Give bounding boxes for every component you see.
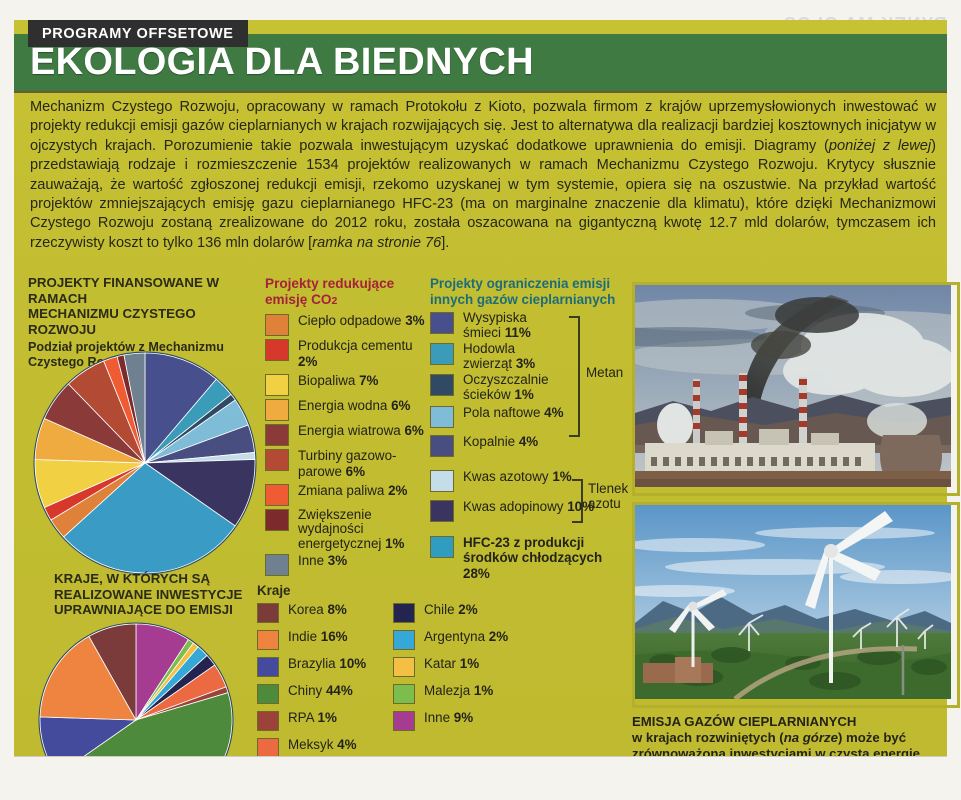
legend-swatch (430, 406, 454, 428)
legend-co2-title-line2-text: emisję CO (265, 292, 332, 307)
legend-item-label: Kwas azotowy 1% (463, 469, 572, 485)
legend-item: Malezja 1% (393, 683, 517, 704)
legend-swatch (393, 657, 415, 677)
legend-item: Pola naftowe 4% (430, 405, 630, 428)
legend-item-value: 1% (552, 469, 571, 484)
legend-item-label: Kwas adopinowy 10% (463, 499, 594, 515)
legend-label-line1: Inne (424, 710, 450, 725)
legend-label-line2: ścieków (463, 387, 511, 402)
legend-item: Energia wodna 6% (265, 398, 430, 421)
legend-swatch (265, 449, 289, 471)
legend-label-line1: Kwas azotowy (463, 469, 549, 484)
photo-wind-farm (632, 502, 960, 708)
legend-item-value: 6% (404, 423, 423, 438)
photo-wind-farm-image (635, 505, 951, 699)
legend-hfc-label: HFC-23 z produkcji środków chłodzących 2… (463, 535, 630, 582)
legend-swatch (430, 435, 454, 457)
legend-item-value: 3% (328, 553, 347, 568)
legend-item-value: 1% (318, 710, 337, 725)
legend-swatch (430, 312, 454, 334)
legend-item-value: 8% (327, 602, 346, 617)
magazine-page: RYNEK MA GŁOS EKOLOGIA DLA BIEDNYCH PROG… (0, 0, 961, 800)
legend-item-label: Pola naftowe 4% (463, 405, 564, 421)
legend-item: Energia wiatrowa 6% (265, 423, 430, 446)
legend-label-line1: Energia wodna (298, 398, 387, 413)
legend-item: Chiny 44% (257, 683, 381, 704)
legend-item-value: 6% (391, 398, 410, 413)
legend-swatch (265, 424, 289, 446)
legend-item: Hodowlazwierząt 3% (430, 342, 630, 371)
article-body: Mechanizm Czystego Rozwoju, opracowany w… (30, 98, 936, 253)
legend-hfc-row: HFC-23 z produkcji środków chłodzących 2… (430, 535, 630, 582)
legend-item-value: 44% (326, 683, 353, 698)
legend-item-value: 2% (458, 602, 477, 617)
legend-other-gases: Projekty ograniczenia emisji innych gazó… (430, 276, 630, 581)
caption-line2: w krajach rozwiniętych (na górze) może b… (632, 730, 952, 746)
legend-other-title-line2: innych gazów cieplarnianych (430, 292, 630, 308)
legend-label-line2: zwierząt (463, 356, 512, 371)
legend-label-line1: Chiny (288, 683, 322, 698)
legend-item: Kwas adopinowy 10% (430, 499, 630, 522)
legend-item-value: 11% (505, 325, 531, 340)
legend-item-label: Chile 2% (424, 602, 478, 618)
legend-item-value: 2% (298, 354, 317, 369)
legend-item-label: Biopaliwa 7% (298, 373, 378, 389)
legend-item-value: 3% (405, 313, 424, 328)
legend-item-value: 2% (489, 629, 508, 644)
legend-item-value: 16% (321, 629, 348, 644)
legend-label-line1: Chile (424, 602, 455, 617)
legend-item-value: 1% (514, 387, 533, 402)
legend-swatch (393, 684, 415, 704)
legend-other-title-line1: Projekty ograniczenia emisji (430, 276, 630, 292)
legend-item: Wysypiskaśmieci 11% (430, 311, 630, 340)
legend-other-items: Wysypiskaśmieci 11%Hodowlazwierząt 3%Ocz… (430, 311, 630, 522)
legend-label-line1: Katar (424, 656, 456, 671)
legend-item-label: Oczyszczalnieścieków 1% (463, 373, 549, 402)
legend-swatch (393, 711, 415, 731)
legend-item: RPA 1% (257, 710, 381, 731)
chart2-heading-line3: UPRAWNIAJĄCE DO EMISJI (54, 602, 264, 618)
legend-label-line1: Pola naftowe (463, 405, 540, 420)
legend-label-line1: Argentyna (424, 629, 485, 644)
legend-item: Oczyszczalnieścieków 1% (430, 373, 630, 402)
legend-swatch (257, 711, 279, 731)
chart2-heading-block: KRAJE, W KTÓRYCH SĄ REALIZOWANE INWESTYC… (54, 571, 264, 618)
legend-label-line1: Biopaliwa (298, 373, 355, 388)
legend-item-label: Energia wiatrowa 6% (298, 423, 424, 439)
pie-chart-projects (32, 350, 258, 576)
legend-countries-col2: Chile 2%Argentyna 2%Katar 1%Malezja 1%In… (393, 602, 517, 764)
legend-label-line1: Inne (298, 553, 324, 568)
legend-item-label: Korea 8% (288, 602, 347, 618)
legend-label-line1: Ciepło odpadowe (298, 313, 401, 328)
body-italic-1: poniżej z lewej (829, 138, 931, 154)
legend-label-line1: Brazylia (288, 656, 336, 671)
legend-item-label: Wysypiskaśmieci 11% (463, 311, 531, 340)
legend-swatch (265, 484, 289, 506)
legend-countries-columns: Korea 8%Indie 16%Brazylia 10%Chiny 44%RP… (257, 602, 517, 764)
legend-item: Kopalnie 4% (430, 434, 630, 457)
legend-item-label: Zwiększenie wydajnościenergetycznej 1% (298, 508, 430, 552)
legend-label-line1: Energia wiatrowa (298, 423, 401, 438)
legend-item-value: 1% (460, 656, 479, 671)
legend-swatch (430, 343, 454, 365)
legend-item-label: Kopalnie 4% (463, 434, 538, 450)
legend-item-value: 1% (385, 536, 404, 551)
legend-hfc-value: 28% (463, 566, 490, 581)
legend-item-label: Ciepło odpadowe 3% (298, 313, 425, 329)
legend-item-value: 4% (519, 434, 538, 449)
legend-swatch (257, 684, 279, 704)
legend-item-value: 1% (474, 683, 493, 698)
legend-label-line1: Kwas adopinowy (463, 499, 564, 514)
legend-item-value: 7% (359, 373, 378, 388)
legend-item: Chile 2% (393, 602, 517, 623)
legend-item: Ciepło odpadowe 3% (265, 313, 430, 336)
legend-countries-title: Kraje (257, 583, 517, 598)
legend-label-line1: Indie (288, 629, 317, 644)
legend-label-line2: śmieci (463, 325, 501, 340)
legend-item-value: 10% (567, 499, 594, 514)
legend-item-value: 4% (544, 405, 563, 420)
legend-swatch (257, 738, 279, 758)
legend-hfc-line2: środków chłodzących (463, 550, 602, 565)
legend-co2-title-line2: emisję CO2 (265, 292, 430, 309)
section-kicker: PROGRAMY OFFSETOWE (28, 20, 248, 47)
legend-swatch (265, 339, 289, 361)
legend-co2-title-line1: Projekty redukujące (265, 276, 430, 292)
legend-co2: Projekty redukujące emisję CO2 Ciepło od… (265, 276, 430, 578)
legend-item-label: Energia wodna 6% (298, 398, 410, 414)
caption-line2-b: ) może być (838, 730, 906, 745)
chart1-heading-line2: MECHANIZMU CZYSTEGO ROZWOJU (28, 306, 264, 337)
legend-item: Turbiny gazowo-parowe 6% (265, 448, 430, 481)
chart1-heading-line1: PROJEKTY FINANSOWANE W RAMACH (28, 275, 264, 306)
legend-item-value: 10% (339, 656, 366, 671)
legend-item-value: 3% (516, 356, 535, 371)
legend-hfc-line1: HFC-23 z produkcji (463, 535, 584, 550)
legend-item: Produkcja cementu 2% (265, 338, 430, 371)
legend-item-label: Brazylia 10% (288, 656, 366, 672)
legend-swatch (393, 630, 415, 650)
caption-line1: EMISJA GAZÓW CIEPLARNIANYCH (632, 714, 952, 730)
legend-swatch (257, 603, 279, 623)
legend-item: Biopaliwa 7% (265, 373, 430, 396)
photo-power-plant-image (635, 285, 951, 487)
legend-item-value: 6% (346, 464, 365, 479)
legend-countries-col1: Korea 8%Indie 16%Brazylia 10%Chiny 44%RP… (257, 602, 381, 764)
legend-swatch (265, 554, 289, 576)
legend-item-label: Inne 3% (298, 553, 347, 569)
legend-item-label: Chiny 44% (288, 683, 353, 699)
legend-swatch (393, 603, 415, 623)
legend-co2-items: Ciepło odpadowe 3%Produkcja cementu 2%Bi… (265, 313, 430, 576)
legend-item-value: 9% (454, 710, 473, 725)
legend-swatch (430, 374, 454, 396)
legend-item-label: Meksyk 4% (288, 737, 356, 753)
legend-label-line1: Produkcja cementu (298, 338, 413, 353)
co2-subscript: 2 (332, 295, 338, 307)
legend-label-line1: Zmiana paliwa (298, 483, 384, 498)
legend-item-label: Produkcja cementu 2% (298, 338, 430, 371)
legend-swatch (430, 470, 454, 492)
legend-item: Argentyna 2% (393, 629, 517, 650)
legend-swatch-hfc (430, 536, 454, 558)
legend-item-label: Malezja 1% (424, 683, 493, 699)
legend-item: Zmiana paliwa 2% (265, 483, 430, 506)
legend-item-value: 4% (337, 737, 356, 752)
legend-item-label: Katar 1% (424, 656, 479, 672)
legend-item: Zwiększenie wydajnościenergetycznej 1% (265, 508, 430, 552)
legend-label-line1: Hodowla (463, 341, 515, 356)
legend-item: Meksyk 4% (257, 737, 381, 758)
legend-item: Inne 3% (265, 553, 430, 576)
body-italic-2: ramka na stronie 76 (312, 235, 441, 251)
chart2-heading-line1: KRAJE, W KTÓRYCH SĄ (54, 571, 264, 587)
legend-item-label: Hodowlazwierząt 3% (463, 342, 535, 371)
pie-chart-projects-svg (32, 350, 258, 576)
legend-label-line2: energetycznej (298, 536, 381, 551)
legend-swatch (430, 500, 454, 522)
caption-line2-italic: na górze (784, 730, 838, 745)
legend-countries: Kraje Korea 8%Indie 16%Brazylia 10%Chiny… (257, 583, 517, 764)
legend-item: Brazylia 10% (257, 656, 381, 677)
legend-label-line1: Malezja (424, 683, 470, 698)
photo-power-plant (632, 282, 960, 496)
legend-item: Kwas azotowy 1% (430, 469, 630, 492)
legend-label-line1: RPA (288, 710, 314, 725)
legend-label-line1: Wysypiska (463, 310, 527, 325)
article-panel: EKOLOGIA DLA BIEDNYCH PROGRAMY OFFSETOWE… (14, 20, 947, 780)
legend-swatch (257, 657, 279, 677)
legend-item-label: Indie 16% (288, 629, 348, 645)
legend-swatch (257, 630, 279, 650)
legend-item-label: Argentyna 2% (424, 629, 508, 645)
page-bottom-margin (0, 756, 961, 800)
legend-swatch (265, 509, 289, 531)
legend-item-label: RPA 1% (288, 710, 337, 726)
legend-item: Katar 1% (393, 656, 517, 677)
legend-label-line1: Zwiększenie wydajności (298, 507, 372, 537)
caption-line2-a: w krajach rozwiniętych ( (632, 730, 784, 745)
chart2-heading-line2: REALIZOWANE INWESTYCJE (54, 587, 264, 603)
legend-item-label: Inne 9% (424, 710, 473, 726)
legend-item: Korea 8% (257, 602, 381, 623)
legend-item: Indie 16% (257, 629, 381, 650)
legend-item-label: Zmiana paliwa 2% (298, 483, 407, 499)
legend-item: Inne 9% (393, 710, 517, 731)
legend-label-line1: Meksyk (288, 737, 333, 752)
legend-label-line1: Kopalnie (463, 434, 515, 449)
legend-swatch (265, 314, 289, 336)
legend-swatch (265, 374, 289, 396)
legend-label-line1: Oczyszczalnie (463, 372, 549, 387)
legend-swatch (265, 399, 289, 421)
legend-label-line1: Korea (288, 602, 324, 617)
legend-item-label: Turbiny gazowo-parowe 6% (298, 448, 430, 481)
legend-item-value: 2% (388, 483, 407, 498)
